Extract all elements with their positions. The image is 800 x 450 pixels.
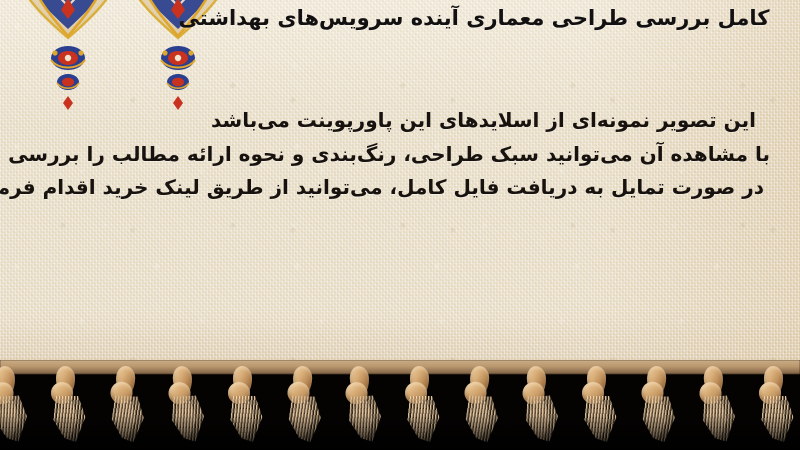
persian-medallion-icon-left bbox=[8, 0, 128, 116]
fringe-tassel bbox=[104, 365, 147, 443]
fringe-tassel bbox=[635, 365, 678, 443]
body-line-2: با مشاهده آن می‌توانید سبک طراحی، رنگ‌بن… bbox=[44, 138, 770, 172]
fringe-tassel bbox=[163, 365, 206, 443]
slide-title: کامل بررسی طراحی معماری آینده سرویس‌های … bbox=[174, 4, 774, 34]
fringe-tassel bbox=[694, 365, 737, 443]
body-line-3: در صورت تمایل به دریافت فایل کامل، می‌تو… bbox=[44, 171, 770, 205]
fringe-tassel bbox=[224, 366, 264, 442]
fringe-tassel bbox=[47, 366, 87, 442]
fringe-tassel bbox=[458, 365, 501, 443]
fringe-tassel bbox=[0, 365, 30, 443]
fringe-tassel bbox=[340, 365, 383, 443]
slide-body-text: این تصویر نمونه‌ای از اسلایدهای این پاور… bbox=[44, 104, 770, 205]
fringe-tassel bbox=[755, 366, 795, 442]
fringe-tassel bbox=[517, 365, 560, 443]
fringe-tassel bbox=[578, 366, 618, 442]
fringe-tassel bbox=[401, 366, 441, 442]
body-line-1: این تصویر نمونه‌ای از اسلایدهای این پاور… bbox=[44, 104, 770, 138]
fringe-tassel bbox=[281, 365, 324, 443]
carpet-fringe bbox=[0, 360, 800, 450]
presentation-slide: کامل بررسی طراحی معماری آینده سرویس‌های … bbox=[0, 0, 800, 450]
